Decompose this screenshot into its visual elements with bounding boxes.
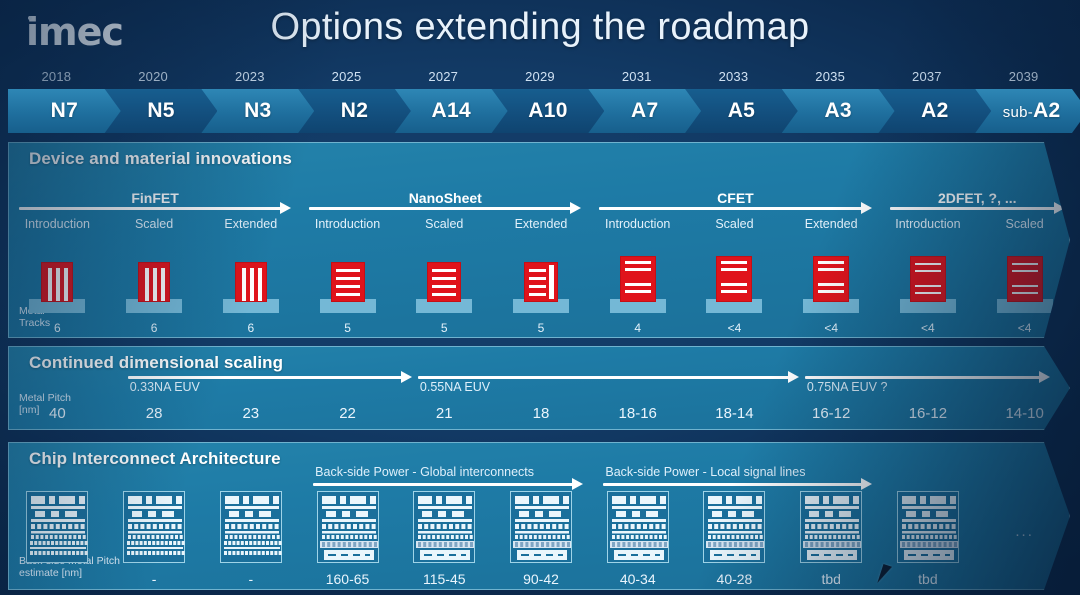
cfet2d-sheet-element [1012, 285, 1038, 287]
cfet2d-sheet-element [1012, 270, 1038, 272]
metal-tracks-value: 5 [299, 321, 396, 335]
panel-interconnect-title: Chip Interconnect Architecture [29, 449, 281, 469]
interconnect-cell [9, 491, 106, 585]
scaling-phase: 0.75NA EUV ? [805, 374, 1050, 396]
metal-pitch-label-line1: Metal Pitch [19, 392, 71, 404]
metal-tracks-value: 5 [396, 321, 493, 335]
fin-element [56, 268, 60, 301]
year-value: 2027 [428, 69, 458, 84]
node-chevron[interactable]: A10 [492, 89, 605, 133]
interconnect-cell: 40-28 [686, 491, 783, 585]
transistor-icon [716, 256, 752, 302]
device-phase-label: FinFET [19, 190, 291, 206]
metal-pitch-value: 18-14 [686, 405, 783, 422]
fin-element [161, 268, 165, 301]
node-label: sub-A2 [1003, 99, 1061, 123]
cfet-sheet-element [721, 283, 747, 286]
device-stage-label: Introduction [299, 217, 396, 231]
year-label: 2033 [685, 66, 782, 86]
nanosheet-element [529, 285, 546, 288]
node-label: N5 [147, 99, 174, 123]
backside-pitch-value: 115-45 [396, 571, 493, 587]
fin-element [250, 268, 254, 301]
nanosheet-element [529, 277, 546, 280]
cfet-sheet-element [625, 261, 651, 264]
phase-arrow-icon [890, 205, 1065, 212]
device-cell: 5 [299, 241, 396, 313]
interconnect-cross-section-icon [898, 492, 960, 564]
node-label: A2 [921, 99, 948, 123]
panel-chip-interconnect: Chip Interconnect Architecture Back-side… [8, 442, 1070, 590]
node-chevron[interactable]: A3 [782, 89, 895, 133]
forksheet-wall [549, 265, 554, 299]
device-stage-label: Scaled [686, 217, 783, 231]
interconnect-cell: - [106, 491, 203, 585]
metal-tracks-value: 6 [106, 321, 203, 335]
metal-pitch-value: 16-12 [783, 405, 880, 422]
phase-arrow-icon [313, 481, 583, 488]
device-cell: <4 [783, 241, 880, 313]
cfet-sheet-element [721, 261, 747, 264]
device-stage-label: Scaled [976, 217, 1073, 231]
nanosheet-element [432, 277, 456, 280]
year-value: 2031 [622, 69, 652, 84]
cfet-sheet-element [721, 290, 747, 293]
interconnect-cell: - [202, 491, 299, 585]
fin-element [48, 268, 52, 301]
node-label: A5 [728, 99, 755, 123]
interconnect-phase-label: Back-side Power - Global interconnects [313, 465, 583, 479]
device-cell: 5 [493, 241, 590, 313]
cfet-sheet-element [625, 268, 651, 271]
interconnect-cell: tbd [880, 491, 977, 585]
fin-element [242, 268, 246, 301]
transistor-icon [524, 262, 558, 302]
year-label: 2025 [298, 66, 395, 86]
panel-device-title: Device and material innovations [29, 149, 292, 169]
transistor-icon [138, 262, 170, 302]
device-phase-label: NanoSheet [309, 190, 581, 206]
year-value: 2033 [719, 69, 749, 84]
node-chevron-row: N7N5N3N2A14A10A7A5A3A2sub-A2 [8, 89, 1080, 133]
interconnect-cell: 40-34 [589, 491, 686, 585]
year-value: 2023 [235, 69, 265, 84]
transistor-icon [1007, 256, 1043, 302]
metal-pitch-value: 23 [202, 405, 299, 422]
year-label: 2027 [395, 66, 492, 86]
cfet-sheet-element [818, 283, 844, 286]
node-label: N2 [341, 99, 368, 123]
node-chevron[interactable]: N3 [201, 89, 314, 133]
panel-scaling-title: Continued dimensional scaling [29, 353, 283, 373]
metal-tracks-value: <4 [783, 321, 880, 335]
interconnect-cross-section-icon [704, 492, 766, 564]
backside-pitch-value: tbd [880, 571, 977, 587]
fin-element [258, 268, 262, 301]
scaling-phase-label: 0.33NA EUV [128, 380, 412, 394]
year-label: 2018 [8, 66, 105, 86]
phase-arrow-icon [599, 205, 871, 212]
metal-pitch-value: 28 [106, 405, 203, 422]
device-cell: <4 [686, 241, 783, 313]
interconnect-cross-section-icon [414, 492, 476, 564]
year-label: 2029 [492, 66, 589, 86]
interconnect-cross-section-icon [27, 492, 89, 564]
interconnect-icon-frame [703, 491, 765, 563]
interconnect-cross-section-icon [511, 492, 573, 564]
metal-tracks-value: <4 [686, 321, 783, 335]
interconnect-icon-frame [800, 491, 862, 563]
year-value: 2037 [912, 69, 942, 84]
cfet2d-sheet-element [1012, 292, 1038, 294]
cfet2d-sheet-element [915, 285, 941, 287]
cfet2d-sheet-element [1012, 263, 1038, 265]
nanosheet-element [529, 293, 546, 296]
interconnect-cross-section-icon [221, 492, 283, 564]
node-label-prefix: sub- [1003, 104, 1033, 121]
node-chevron[interactable]: A14 [395, 89, 508, 133]
device-cell: 6 [9, 241, 106, 313]
panel-device-innovations: Device and material innovations Metal Tr… [8, 142, 1070, 338]
node-label: N7 [51, 99, 78, 123]
nanosheet-element [336, 277, 360, 280]
transistor-icon [427, 262, 461, 302]
interconnect-cell: 115-45 [396, 491, 493, 585]
device-stage-label: Extended [202, 217, 299, 231]
metal-tracks-value: <4 [976, 321, 1073, 335]
interconnect-icon-frame [123, 491, 185, 563]
cfet2d-sheet-element [915, 292, 941, 294]
year-label: 2023 [201, 66, 298, 86]
cfet2d-sheet-element [915, 263, 941, 265]
transistor-icon [620, 256, 656, 302]
interconnect-icon-frame [897, 491, 959, 563]
nanosheet-element [336, 269, 360, 272]
nanosheet-element [336, 293, 360, 296]
interconnect-icon-frame [510, 491, 572, 563]
interconnect-cross-section-icon [608, 492, 670, 564]
node-chevron[interactable]: N2 [298, 89, 411, 133]
metal-tracks-value: <4 [880, 321, 977, 335]
metal-pitch-value: 18 [493, 405, 590, 422]
transistor-icon [331, 262, 365, 302]
interconnect-cell: 160-65 [299, 491, 396, 585]
nanosheet-element [432, 269, 456, 272]
node-chevron[interactable]: N7 [8, 89, 121, 133]
year-value: 2025 [332, 69, 362, 84]
node-chevron[interactable]: A2 [879, 89, 992, 133]
device-cell: 5 [396, 241, 493, 313]
cfet-sheet-element [818, 261, 844, 264]
interconnect-phase-label: Back-side Power - Local signal lines [603, 465, 871, 479]
year-label: 2031 [588, 66, 685, 86]
node-label: A10 [528, 99, 567, 123]
interconnect-icon-frame [607, 491, 669, 563]
node-label: A14 [432, 99, 471, 123]
device-stage-label: Extended [783, 217, 880, 231]
scaling-phase: 0.33NA EUV [128, 374, 412, 396]
phase-arrow-icon [19, 205, 291, 212]
year-label: 2035 [782, 66, 879, 86]
transistor-icon [910, 256, 946, 302]
year-value: 2039 [1009, 69, 1039, 84]
year-label: 2037 [879, 66, 976, 86]
device-phase-label: CFET [599, 190, 871, 206]
backside-pitch-value: - [202, 571, 299, 587]
metal-pitch-value: 16-12 [880, 405, 977, 422]
transistor-icon [813, 256, 849, 302]
node-label: A7 [631, 99, 658, 123]
interconnect-icon-frame [26, 491, 88, 563]
panel-dimensional-scaling: Continued dimensional scaling Metal Pitc… [8, 346, 1070, 430]
device-cell: 6 [202, 241, 299, 313]
backside-pitch-value: tbd [783, 571, 880, 587]
cfet-sheet-element [625, 283, 651, 286]
node-label: A3 [824, 99, 851, 123]
metal-tracks-value: 5 [493, 321, 590, 335]
interconnect-cross-section-icon [124, 492, 186, 564]
device-stage-label: Introduction [9, 217, 106, 231]
nanosheet-element [336, 285, 360, 288]
interconnect-cell: ... [976, 491, 1073, 585]
fin-element [64, 268, 68, 301]
node-label: N3 [244, 99, 271, 123]
interconnect-cross-section-icon [801, 492, 863, 564]
interconnect-icon-frame [220, 491, 282, 563]
device-stage-label: Extended [493, 217, 590, 231]
metal-pitch-value: 22 [299, 405, 396, 422]
cfet-sheet-element [625, 290, 651, 293]
interconnect-cell: tbd [783, 491, 880, 585]
device-cell: 4 [589, 241, 686, 313]
metal-tracks-value: 6 [202, 321, 299, 335]
backside-pitch-value: 40-34 [589, 571, 686, 587]
interconnect-icon-frame [413, 491, 475, 563]
year-row: 2018202020232025202720292031203320352037… [8, 66, 1080, 86]
backside-pitch-value: 160-65 [299, 571, 396, 587]
phase-arrow-icon [309, 205, 581, 212]
backside-pitch-value: - [106, 571, 203, 587]
device-stage-label: Introduction [880, 217, 977, 231]
device-cell: 6 [106, 241, 203, 313]
fin-element [145, 268, 149, 301]
device-cell: <4 [880, 241, 977, 313]
metal-tracks-value: 6 [9, 321, 106, 335]
year-value: 2035 [815, 69, 845, 84]
node-chevron[interactable]: A7 [588, 89, 701, 133]
node-chevron[interactable]: N5 [105, 89, 218, 133]
scaling-phase-label: 0.75NA EUV ? [805, 380, 1050, 394]
year-value: 2029 [525, 69, 555, 84]
transistor-icon [235, 262, 267, 302]
backside-pitch-value: 40-28 [686, 571, 783, 587]
metal-tracks-value: 4 [589, 321, 686, 335]
phase-arrow-icon [603, 481, 871, 488]
slide-canvas: imec Options extending the roadmap 20182… [0, 0, 1080, 595]
metal-pitch-value: 18-16 [589, 405, 686, 422]
interconnect-icon-frame [317, 491, 379, 563]
year-value: 2020 [138, 69, 168, 84]
year-label: 2039 [975, 66, 1072, 86]
metal-pitch-value: 40 [9, 405, 106, 422]
backside-pitch-value: 90-42 [493, 571, 590, 587]
nanosheet-element [432, 285, 456, 288]
scaling-phase: 0.55NA EUV [418, 374, 799, 396]
metal-pitch-value: 14-10 [976, 405, 1073, 422]
cfet-sheet-element [721, 268, 747, 271]
page-title: Options extending the roadmap [0, 6, 1080, 49]
nanosheet-element [529, 269, 546, 272]
interconnect-ellipsis: ... [976, 523, 1073, 540]
device-cell: <4 [976, 241, 1073, 313]
year-label: 2020 [105, 66, 202, 86]
node-chevron[interactable]: A5 [685, 89, 798, 133]
scaling-phase-label: 0.55NA EUV [418, 380, 799, 394]
interconnect-cross-section-icon [318, 492, 380, 564]
year-value: 2018 [41, 69, 71, 84]
cfet2d-sheet-element [915, 270, 941, 272]
metal-pitch-value: 21 [396, 405, 493, 422]
cfet-sheet-element [818, 268, 844, 271]
interconnect-cell: 90-42 [493, 491, 590, 585]
device-stage-label: Scaled [106, 217, 203, 231]
device-phase-label: 2DFET, ?, ... [890, 190, 1065, 206]
cfet-sheet-element [818, 290, 844, 293]
device-stage-label: Introduction [589, 217, 686, 231]
transistor-icon [41, 262, 73, 302]
fin-element [153, 268, 157, 301]
nanosheet-element [432, 293, 456, 296]
device-stage-label: Scaled [396, 217, 493, 231]
